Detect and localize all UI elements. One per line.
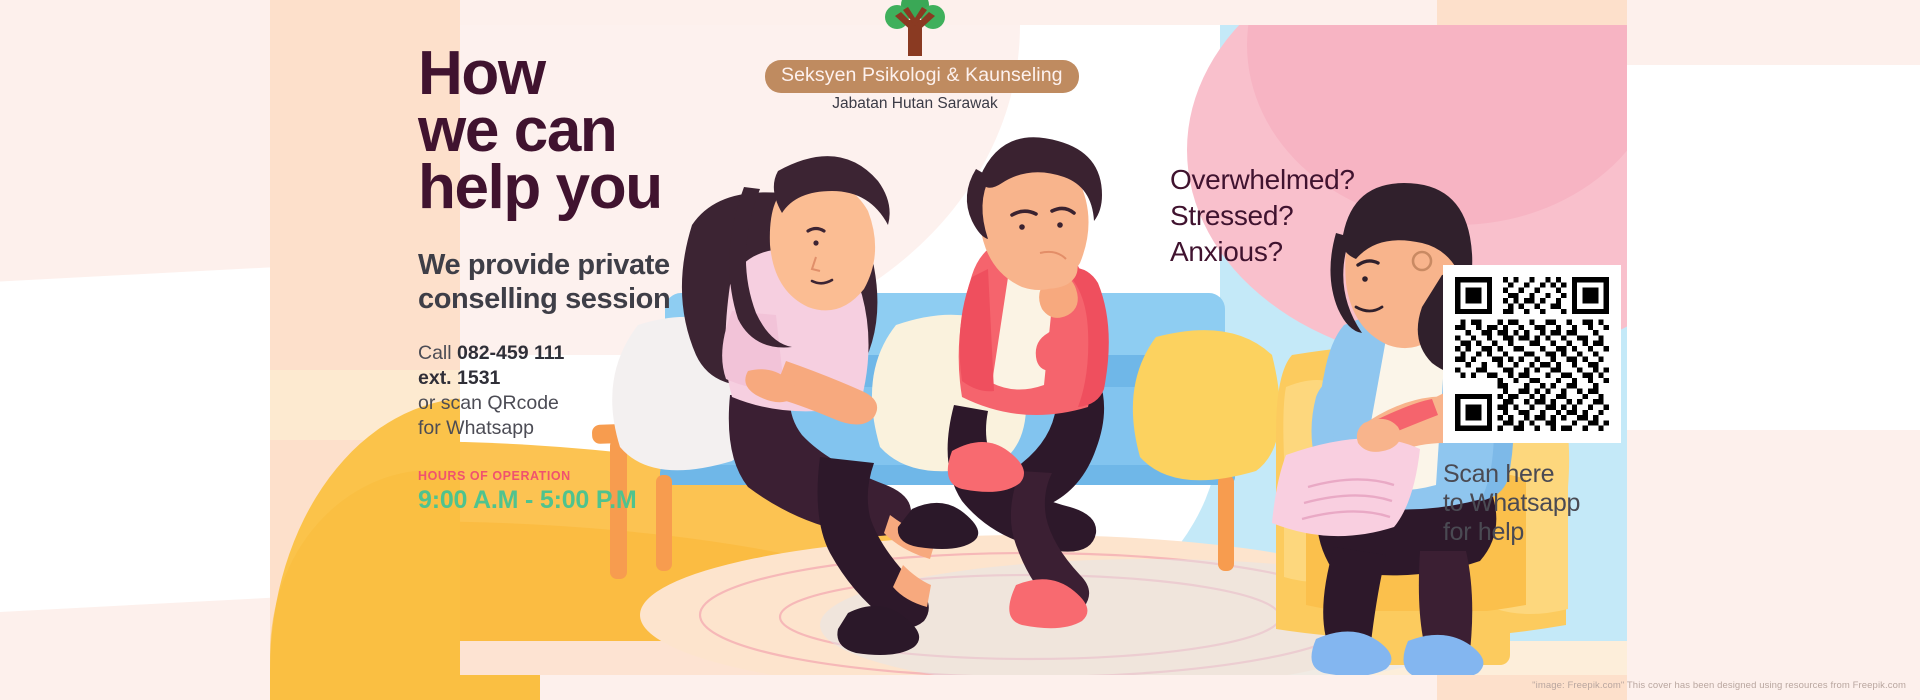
contact-line-3: or scan QRcode: [418, 391, 818, 416]
question-line-3: Anxious?: [1170, 234, 1355, 270]
scan-line-2: to Whatsapp: [1443, 489, 1621, 518]
scan-line-1: Scan here: [1443, 460, 1621, 489]
call-prefix: Call: [418, 342, 457, 364]
question-line-2: Stressed?: [1170, 198, 1355, 234]
headline-line-2: we can: [418, 102, 818, 159]
image-credit: "image: Freepik.com" This cover has been…: [1532, 680, 1906, 691]
scan-instructions: Scan here to Whatsapp for help: [1443, 460, 1621, 547]
hours-value: 9:00 A.M - 5:00 P.M: [418, 486, 818, 515]
subheading: We provide private conselling session: [418, 249, 718, 316]
subhead-line-1: We provide private: [418, 249, 718, 283]
phone-number: 082-459 111: [457, 342, 564, 364]
subhead-line-2: conselling session: [418, 283, 718, 317]
qr-section: Scan here to Whatsapp for help: [1443, 265, 1621, 547]
contact-ext-line: ext. 1531: [418, 366, 818, 391]
headline-line-1: How: [418, 45, 818, 102]
phone-ext: ext. 1531: [418, 367, 500, 389]
copy-block: How we can help you We provide private c…: [418, 45, 818, 515]
questions-block: Overwhelmed? Stressed? Anxious?: [1170, 162, 1355, 269]
qr-code-image: [1455, 277, 1609, 431]
contact-block: Call 082-459 111 ext. 1531 or scan QRcod…: [418, 341, 818, 441]
question-line-1: Overwhelmed?: [1170, 162, 1355, 198]
contact-line-4: for Whatsapp: [418, 416, 818, 441]
poster-stage: Seksyen Psikologi & Kaunseling Jabatan H…: [0, 0, 1920, 700]
qr-code[interactable]: [1443, 265, 1621, 443]
tree-icon: [877, 0, 953, 58]
page-title: How we can help you: [418, 45, 818, 216]
headline-line-3: help you: [418, 159, 818, 216]
contact-phone-line: Call 082-459 111: [418, 341, 818, 366]
hours-label: HOURS OF OPERATION: [418, 469, 818, 483]
scan-line-3: for help: [1443, 518, 1621, 547]
